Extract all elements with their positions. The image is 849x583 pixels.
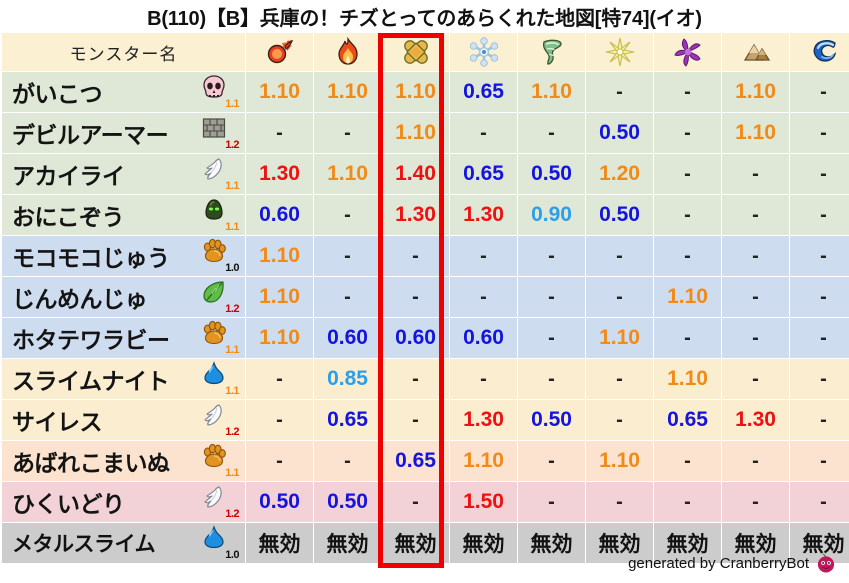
resistance-value: 1.10	[735, 80, 776, 103]
resistance-cell: -	[654, 482, 721, 522]
resistance-cell: -	[722, 277, 789, 317]
monster-type-badge: 1.1	[199, 156, 239, 192]
monster-name-cell: デビルアーマー1.2	[2, 113, 245, 153]
resistance-value: -	[752, 368, 759, 390]
resistance-value: 1.40	[395, 162, 436, 185]
resistance-cell: 0.60	[382, 318, 449, 358]
resistance-cell: -	[246, 400, 313, 440]
resistance-cell: 1.10	[654, 277, 721, 317]
monster-name-label: サイレス	[12, 403, 102, 437]
resistance-cell: -	[450, 277, 517, 317]
resistance-value: -	[820, 368, 827, 390]
resistance-cell: 1.10	[654, 359, 721, 399]
table-row: サイレス1.2-0.65-1.300.50-0.651.30-	[2, 400, 849, 440]
resistance-cell: 1.10	[246, 236, 313, 276]
resistance-value: -	[684, 327, 691, 349]
resistance-cell: 1.10	[722, 113, 789, 153]
resistance-cell: -	[722, 236, 789, 276]
resistance-value: -	[684, 163, 691, 185]
resistance-cell: -	[790, 400, 849, 440]
resistance-value: 1.10	[395, 121, 436, 144]
resistance-value: -	[752, 204, 759, 226]
resistance-cell: -	[790, 236, 849, 276]
resistance-value: 0.50	[531, 408, 572, 431]
element-header-dark	[654, 33, 721, 71]
page-title: B(110)【B】兵庫の！チズとってのあらくれた地図[特74](イオ)	[0, 0, 849, 32]
resistance-cell: -	[790, 318, 849, 358]
resistance-value: 0.50	[327, 490, 368, 513]
resistance-value: -	[276, 409, 283, 431]
resistance-cell: -	[722, 318, 789, 358]
resistance-value: 1.30	[259, 162, 300, 185]
resistance-cell: 1.10	[518, 72, 585, 112]
resistance-value: -	[548, 450, 555, 472]
resistance-cell: -	[382, 236, 449, 276]
resistance-cell: -	[518, 441, 585, 481]
resistance-value: -	[412, 286, 419, 308]
resistance-cell: -	[790, 277, 849, 317]
resistance-value: -	[820, 286, 827, 308]
monster-name-label: あばれこまいぬ	[12, 444, 170, 478]
resistance-cell: -	[450, 359, 517, 399]
monster-name-cell: スライムナイト1.1	[2, 359, 245, 399]
paw-icon	[201, 238, 227, 264]
resistance-value: -	[276, 368, 283, 390]
resistance-cell: 0.65	[314, 400, 381, 440]
resistance-value: 0.60	[395, 326, 436, 349]
monster-type-badge: 1.1	[199, 197, 239, 233]
resistance-value: -	[548, 122, 555, 144]
resistance-value: -	[820, 122, 827, 144]
resistance-cell: 0.50	[314, 482, 381, 522]
resistance-cell: -	[246, 113, 313, 153]
table-row: モコモコじゅう1.01.10--------	[2, 236, 849, 276]
wing-icon	[201, 156, 227, 182]
monster-type-badge: 1.2	[199, 402, 239, 438]
table-row: ホタテワラビー1.11.100.600.600.60-1.10---	[2, 318, 849, 358]
resistance-cell: -	[246, 359, 313, 399]
monster-type-badge: 1.2	[199, 279, 239, 315]
resistance-cell: 1.10	[246, 318, 313, 358]
table-header: モンスター名	[2, 33, 849, 71]
leaf-icon	[201, 279, 227, 305]
resistance-value: -	[616, 491, 623, 513]
resistance-value: 0.85	[327, 367, 368, 390]
element-header-explosion	[382, 33, 449, 71]
brick-icon	[201, 115, 227, 141]
table-row: スライムナイト1.1-0.85----1.10--	[2, 359, 849, 399]
resistance-value: 1.10	[531, 80, 572, 103]
light-icon	[605, 37, 635, 67]
resistance-cell: 1.30	[450, 400, 517, 440]
resistance-value: -	[820, 327, 827, 349]
resistance-cell: -	[518, 113, 585, 153]
resistance-value: -	[344, 245, 351, 267]
monster-type-badge: 1.1	[199, 361, 239, 397]
resistance-value: 0.65	[463, 162, 504, 185]
cranberry-icon	[815, 552, 837, 574]
monster-type-multiplier: 1.1	[225, 222, 239, 233]
resistance-cell: -	[790, 359, 849, 399]
resistance-cell: -	[654, 113, 721, 153]
resistance-cell: -	[382, 277, 449, 317]
resistance-cell: -	[654, 154, 721, 194]
resistance-value: -	[752, 245, 759, 267]
resistance-cell: -	[586, 72, 653, 112]
resistance-value: -	[752, 163, 759, 185]
paw-icon	[201, 320, 227, 346]
resistance-cell: -	[790, 441, 849, 481]
resistance-value: 0.60	[259, 203, 300, 226]
resistance-cell: 1.30	[246, 154, 313, 194]
resistance-value: -	[548, 245, 555, 267]
resistance-value: -	[684, 245, 691, 267]
resistance-cell: -	[654, 441, 721, 481]
resistance-value: 1.10	[259, 244, 300, 267]
resistance-cell: 1.10	[246, 277, 313, 317]
resistance-value: -	[820, 163, 827, 185]
monster-name-cell: モコモコじゅう1.0	[2, 236, 245, 276]
resistance-value: 0.50	[531, 162, 572, 185]
table-row: アカイライ1.11.301.101.400.650.501.20---	[2, 154, 849, 194]
resistance-cell: 無効	[382, 523, 449, 563]
resistance-value: -	[820, 245, 827, 267]
resistance-cell: 1.40	[382, 154, 449, 194]
resistance-cell: 1.10	[382, 72, 449, 112]
monster-type-badge: 1.1	[199, 320, 239, 356]
resistance-cell: 0.50	[518, 154, 585, 194]
skull-icon	[201, 74, 227, 100]
resistance-value: -	[684, 491, 691, 513]
resistance-table: モンスター名	[1, 32, 849, 564]
resistance-value: 1.10	[395, 80, 436, 103]
resistance-cell: -	[790, 72, 849, 112]
resistance-cell: -	[790, 113, 849, 153]
element-header-meteor	[246, 33, 313, 71]
resistance-value: -	[684, 122, 691, 144]
resistance-value: 無効	[327, 533, 369, 556]
resistance-cell: -	[722, 482, 789, 522]
resistance-value: -	[684, 81, 691, 103]
resistance-value: -	[548, 368, 555, 390]
resistance-value: 0.65	[667, 408, 708, 431]
resistance-value: -	[820, 450, 827, 472]
resistance-cell: 0.60	[314, 318, 381, 358]
resistance-value: -	[276, 122, 283, 144]
resistance-cell: -	[722, 195, 789, 235]
resistance-value: 1.30	[735, 408, 776, 431]
resistance-cell: 1.50	[450, 482, 517, 522]
resistance-value: -	[344, 204, 351, 226]
resistance-cell: -	[722, 441, 789, 481]
resistance-cell: -	[790, 195, 849, 235]
element-header-snowflake	[450, 33, 517, 71]
resistance-value: 1.10	[667, 285, 708, 308]
resistance-cell: 1.20	[586, 154, 653, 194]
monster-type-badge: 1.1	[199, 443, 239, 479]
monster-type-multiplier: 1.2	[225, 509, 239, 520]
table-row: ひくいどり1.20.500.50-1.50-----	[2, 482, 849, 522]
resistance-value: 0.50	[599, 121, 640, 144]
resistance-value: 1.10	[259, 285, 300, 308]
resistance-value: -	[548, 327, 555, 349]
resistance-value: 0.60	[463, 326, 504, 349]
header-row: モンスター名	[2, 33, 849, 71]
resistance-value: -	[344, 122, 351, 144]
monster-type-badge: 1.0	[199, 238, 239, 274]
resistance-value: 1.10	[327, 80, 368, 103]
resistance-value: 0.65	[327, 408, 368, 431]
monster-name-label: おにこぞう	[12, 198, 124, 232]
monster-type-badge: 1.0	[199, 525, 239, 561]
resistance-cell: 0.60	[246, 195, 313, 235]
monster-name-label: メタルスライム	[12, 528, 155, 558]
element-header-light	[586, 33, 653, 71]
resistance-value: -	[820, 81, 827, 103]
resistance-value: -	[276, 450, 283, 472]
paw-icon	[201, 443, 227, 469]
resistance-cell: 0.65	[382, 441, 449, 481]
resistance-value: -	[684, 204, 691, 226]
monster-name-cell: ひくいどり1.2	[2, 482, 245, 522]
monster-name-label: じんめんじゅ	[12, 280, 147, 314]
resistance-cell: -	[314, 195, 381, 235]
slimeblue-icon	[201, 361, 227, 387]
resistance-cell: 無効	[518, 523, 585, 563]
resistance-value: -	[752, 450, 759, 472]
wave-icon	[809, 37, 839, 67]
monster-name-cell: じんめんじゅ1.2	[2, 277, 245, 317]
explosion-icon	[401, 37, 431, 67]
monster-name-label: スライムナイト	[12, 362, 169, 396]
monster-type-multiplier: 1.2	[225, 140, 239, 151]
resistance-value: -	[820, 204, 827, 226]
resistance-value: 1.10	[599, 449, 640, 472]
resistance-cell: -	[654, 195, 721, 235]
resistance-cell: -	[518, 236, 585, 276]
resistance-value: 1.10	[463, 449, 504, 472]
monster-name-label: ホタテワラビー	[12, 321, 170, 355]
resistance-cell: 1.10	[246, 72, 313, 112]
monster-name-label: ひくいどり	[12, 485, 125, 519]
monster-type-multiplier: 1.1	[225, 181, 239, 192]
resistance-value: 0.60	[327, 326, 368, 349]
resistance-cell: 1.30	[382, 195, 449, 235]
resistance-value: 1.10	[259, 80, 300, 103]
monster-type-multiplier: 1.1	[225, 345, 239, 356]
resistance-value: -	[752, 491, 759, 513]
monster-name-label: アカイライ	[12, 157, 125, 191]
resistance-value: 1.30	[463, 408, 504, 431]
resistance-value: 0.90	[531, 203, 572, 226]
resistance-cell: -	[246, 441, 313, 481]
resistance-cell: -	[314, 113, 381, 153]
resistance-value: 1.20	[599, 162, 640, 185]
resistance-value: -	[480, 122, 487, 144]
resistance-cell: -	[518, 359, 585, 399]
monster-type-badge: 1.2	[199, 115, 239, 151]
resistance-table-container: モンスター名	[0, 32, 849, 542]
resistance-value: 無効	[531, 533, 573, 556]
resistance-cell: 0.50	[586, 195, 653, 235]
footer-text: generated by CranberryBot	[628, 555, 809, 572]
resistance-cell: -	[450, 236, 517, 276]
resistance-value: -	[616, 81, 623, 103]
tornado-icon	[537, 37, 567, 67]
element-header-tornado	[518, 33, 585, 71]
table-row: じんめんじゅ1.21.10-----1.10--	[2, 277, 849, 317]
resistance-cell: -	[654, 72, 721, 112]
resistance-cell: 1.10	[722, 72, 789, 112]
resistance-value: -	[412, 368, 419, 390]
resistance-cell: 1.30	[450, 195, 517, 235]
resistance-cell: 無効	[246, 523, 313, 563]
resistance-cell: -	[382, 482, 449, 522]
resistance-cell: -	[654, 236, 721, 276]
resistance-value: -	[616, 245, 623, 267]
resistance-cell: -	[586, 277, 653, 317]
monster-type-badge: 1.1	[199, 74, 239, 110]
monster-name-label: デビルアーマー	[12, 116, 168, 150]
meteor-icon	[265, 37, 295, 67]
resistance-cell: 1.10	[314, 154, 381, 194]
resistance-value: 1.10	[259, 326, 300, 349]
resistance-cell: -	[586, 236, 653, 276]
resistance-value: 0.65	[463, 80, 504, 103]
resistance-cell: -	[586, 482, 653, 522]
wing-icon	[201, 402, 227, 428]
resistance-cell: 0.65	[654, 400, 721, 440]
resistance-value: -	[344, 450, 351, 472]
resistance-cell: -	[790, 154, 849, 194]
monster-type-multiplier: 1.0	[225, 550, 239, 561]
monster-name-cell: アカイライ1.1	[2, 154, 245, 194]
resistance-value: -	[752, 286, 759, 308]
resistance-value: 無効	[259, 533, 301, 556]
resistance-cell: -	[382, 400, 449, 440]
resistance-cell: 1.10	[586, 318, 653, 358]
table-row: あばれこまいぬ1.1--0.651.10-1.10---	[2, 441, 849, 481]
resistance-cell: 0.90	[518, 195, 585, 235]
resistance-value: -	[548, 491, 555, 513]
resistance-cell: 0.65	[450, 154, 517, 194]
resistance-cell: 0.50	[586, 113, 653, 153]
wing-icon	[201, 484, 227, 510]
slimeblue-icon	[201, 525, 227, 551]
resistance-cell: 0.85	[314, 359, 381, 399]
monster-name-label: がいこつ	[12, 75, 102, 109]
resistance-value: -	[616, 368, 623, 390]
resistance-cell: -	[518, 482, 585, 522]
resistance-value: 1.10	[327, 162, 368, 185]
resistance-value: -	[616, 409, 623, 431]
resistance-cell: -	[586, 359, 653, 399]
resistance-value: 1.30	[395, 203, 436, 226]
resistance-cell: 0.50	[518, 400, 585, 440]
resistance-value: -	[616, 286, 623, 308]
element-header-flame	[314, 33, 381, 71]
resistance-value: -	[684, 450, 691, 472]
resistance-value: 1.30	[463, 203, 504, 226]
resistance-cell: 無効	[314, 523, 381, 563]
resistance-cell: -	[518, 318, 585, 358]
resistance-value: 無効	[463, 533, 505, 556]
resistance-value: -	[752, 327, 759, 349]
resistance-cell: -	[586, 400, 653, 440]
snowflake-icon	[469, 37, 499, 67]
resistance-cell: -	[722, 154, 789, 194]
resistance-cell: 無効	[450, 523, 517, 563]
resistance-value: 0.50	[259, 490, 300, 513]
resistance-value: -	[412, 245, 419, 267]
resistance-value: -	[820, 491, 827, 513]
resistance-cell: -	[518, 277, 585, 317]
monster-type-multiplier: 1.1	[225, 468, 239, 479]
resistance-cell: 1.30	[722, 400, 789, 440]
resistance-cell: -	[314, 277, 381, 317]
resistance-cell: 1.10	[382, 113, 449, 153]
resistance-cell: 1.10	[450, 441, 517, 481]
resistance-cell: -	[314, 441, 381, 481]
element-header-wave	[790, 33, 849, 71]
resistance-cell: 1.10	[586, 441, 653, 481]
element-header-mountain	[722, 33, 789, 71]
resistance-cell: -	[790, 482, 849, 522]
resistance-cell: -	[450, 113, 517, 153]
resistance-cell: 0.60	[450, 318, 517, 358]
resistance-value: -	[548, 286, 555, 308]
resistance-cell: 1.10	[314, 72, 381, 112]
resistance-value: -	[344, 286, 351, 308]
monster-name-header: モンスター名	[2, 33, 245, 71]
monster-type-multiplier: 1.2	[225, 427, 239, 438]
dark-icon	[673, 37, 703, 67]
resistance-value: -	[480, 368, 487, 390]
flame-icon	[333, 37, 363, 67]
monster-name-cell: サイレス1.2	[2, 400, 245, 440]
monster-type-multiplier: 1.0	[225, 263, 239, 274]
resistance-value: 0.50	[599, 203, 640, 226]
resistance-value: 1.50	[463, 490, 504, 513]
table-row: がいこつ1.11.101.101.100.651.10--1.10-	[2, 72, 849, 112]
resistance-value: -	[480, 245, 487, 267]
monster-type-badge: 1.2	[199, 484, 239, 520]
resistance-cell: 0.65	[450, 72, 517, 112]
monster-type-multiplier: 1.1	[225, 386, 239, 397]
monster-name-cell: メタルスライム1.0	[2, 523, 245, 563]
monster-type-multiplier: 1.2	[225, 304, 239, 315]
resistance-value: 無効	[395, 533, 437, 556]
monster-type-multiplier: 1.1	[225, 99, 239, 110]
monster-name-cell: がいこつ1.1	[2, 72, 245, 112]
resistance-value: -	[412, 409, 419, 431]
monster-name-label: モコモコじゅう	[12, 239, 170, 273]
table-row: おにこぞう1.10.60-1.301.300.900.50---	[2, 195, 849, 235]
resistance-cell: -	[722, 359, 789, 399]
resistance-value: 1.10	[667, 367, 708, 390]
footer: generated by CranberryBot	[628, 549, 837, 577]
resistance-cell: -	[382, 359, 449, 399]
table-row: デビルアーマー1.2--1.10--0.50-1.10-	[2, 113, 849, 153]
table-body: がいこつ1.11.101.101.100.651.10--1.10-デビルアーマ…	[2, 72, 849, 563]
monster-name-cell: あばれこまいぬ1.1	[2, 441, 245, 481]
monster-name-cell: ホタテワラビー1.1	[2, 318, 245, 358]
resistance-value: -	[480, 286, 487, 308]
resistance-value: 1.10	[599, 326, 640, 349]
resistance-value: 0.65	[395, 449, 436, 472]
resistance-value: -	[820, 409, 827, 431]
monster-name-cell: おにこぞう1.1	[2, 195, 245, 235]
